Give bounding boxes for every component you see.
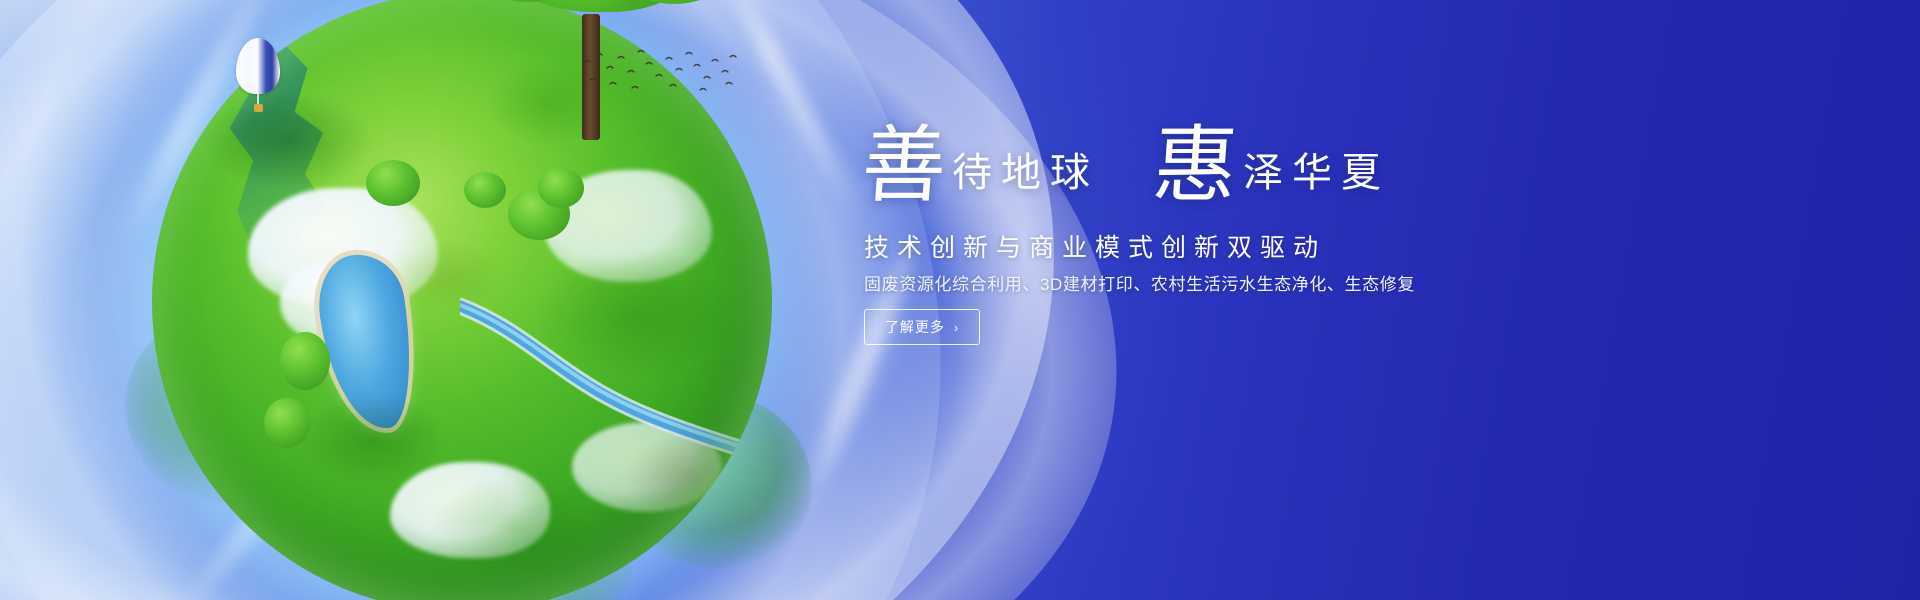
balloon-envelope [236, 38, 280, 94]
hero-description: 固废资源化综合利用、3D建材打印、农村生活污水生态净化、生态修复 [864, 270, 1415, 295]
tree-clump [280, 332, 330, 390]
learn-more-button[interactable]: 了解更多 › [864, 309, 980, 345]
headline-part2-large: 惠 [1150, 128, 1239, 205]
lake [312, 249, 422, 435]
planet-cloud [280, 260, 400, 346]
tree-clump [538, 168, 584, 208]
tree-clump [464, 172, 506, 208]
bird-flock [580, 46, 740, 96]
tree-clump [508, 188, 570, 240]
river [460, 292, 760, 472]
headline-part1-small: 待地球 [952, 153, 1099, 205]
tree-clump [366, 160, 420, 206]
hero-text-block: 善 待地球 惠 泽华夏 技术创新与商业模式创新双驱动 固废资源化综合利用、3D建… [862, 0, 1562, 600]
planet-cloud [572, 422, 722, 512]
planet-cloud [544, 170, 712, 282]
tree-clump [264, 398, 310, 448]
headline-part1-large: 善 [859, 128, 948, 205]
chevron-right-icon: › [954, 321, 959, 334]
learn-more-label: 了解更多 [885, 317, 945, 337]
hero-subtitle: 技术创新与商业模式创新双驱动 [864, 228, 1326, 264]
page-title: 善 待地球 惠 泽华夏 [862, 128, 1390, 205]
planet-cloud [248, 188, 438, 308]
hot-air-balloon [236, 38, 280, 116]
balloon-basket [254, 104, 263, 112]
hero-banner: 善 待地球 惠 泽华夏 技术创新与商业模式创新双驱动 固废资源化综合利用、3D建… [0, 0, 1920, 600]
headline-part2-small: 泽华夏 [1243, 153, 1390, 205]
planet-cloud [390, 462, 550, 558]
